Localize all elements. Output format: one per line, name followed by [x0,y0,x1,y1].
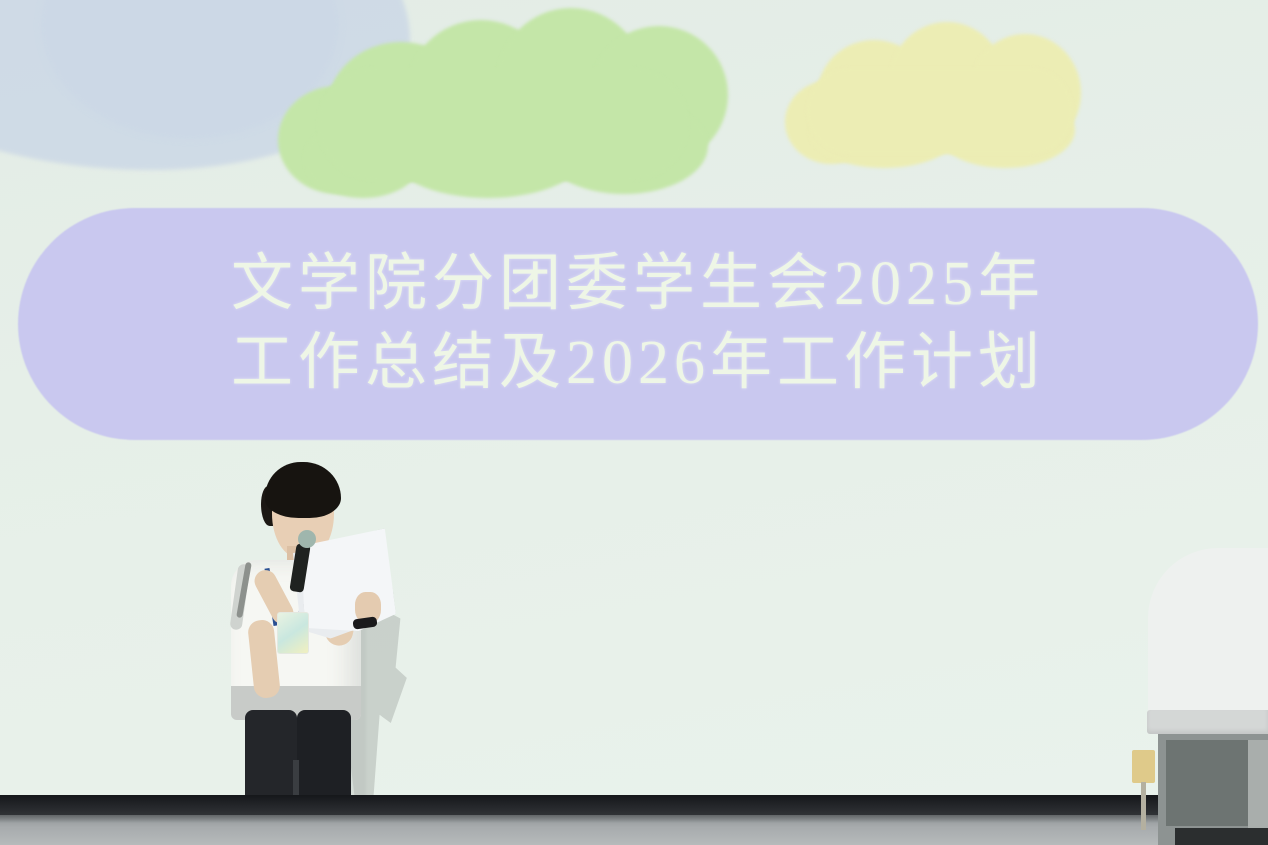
wooden-stick [1141,782,1146,830]
lower-wall-shadow [0,815,1268,823]
presenter-wristwatch [352,616,377,629]
slide-title-container: 文学院分团委学生会2025年 工作总结及2026年工作计划 [18,208,1258,440]
cloud-yellow-icon [785,18,1095,173]
wall-curve [1148,548,1268,728]
presenter-hair [265,462,341,518]
slide-title-line-1: 文学院分团委学生会2025年 [231,245,1045,324]
cloud-green-icon [278,8,728,198]
podium-top [1147,710,1268,734]
presenter-id-badge [277,612,309,654]
slide-title-line-2: 工作总结及2026年工作计划 [231,324,1045,403]
presenter [205,460,435,845]
microphone-head-icon [298,530,316,548]
projection-screen: 文学院分团委学生会2025年 工作总结及2026年工作计划 [0,0,1268,797]
podium-base [1175,828,1268,845]
wooden-object [1132,750,1155,783]
photo-scene: 文学院分团委学生会2025年 工作总结及2026年工作计划 [0,0,1268,845]
projection-screen-bottom-bar [0,795,1268,815]
